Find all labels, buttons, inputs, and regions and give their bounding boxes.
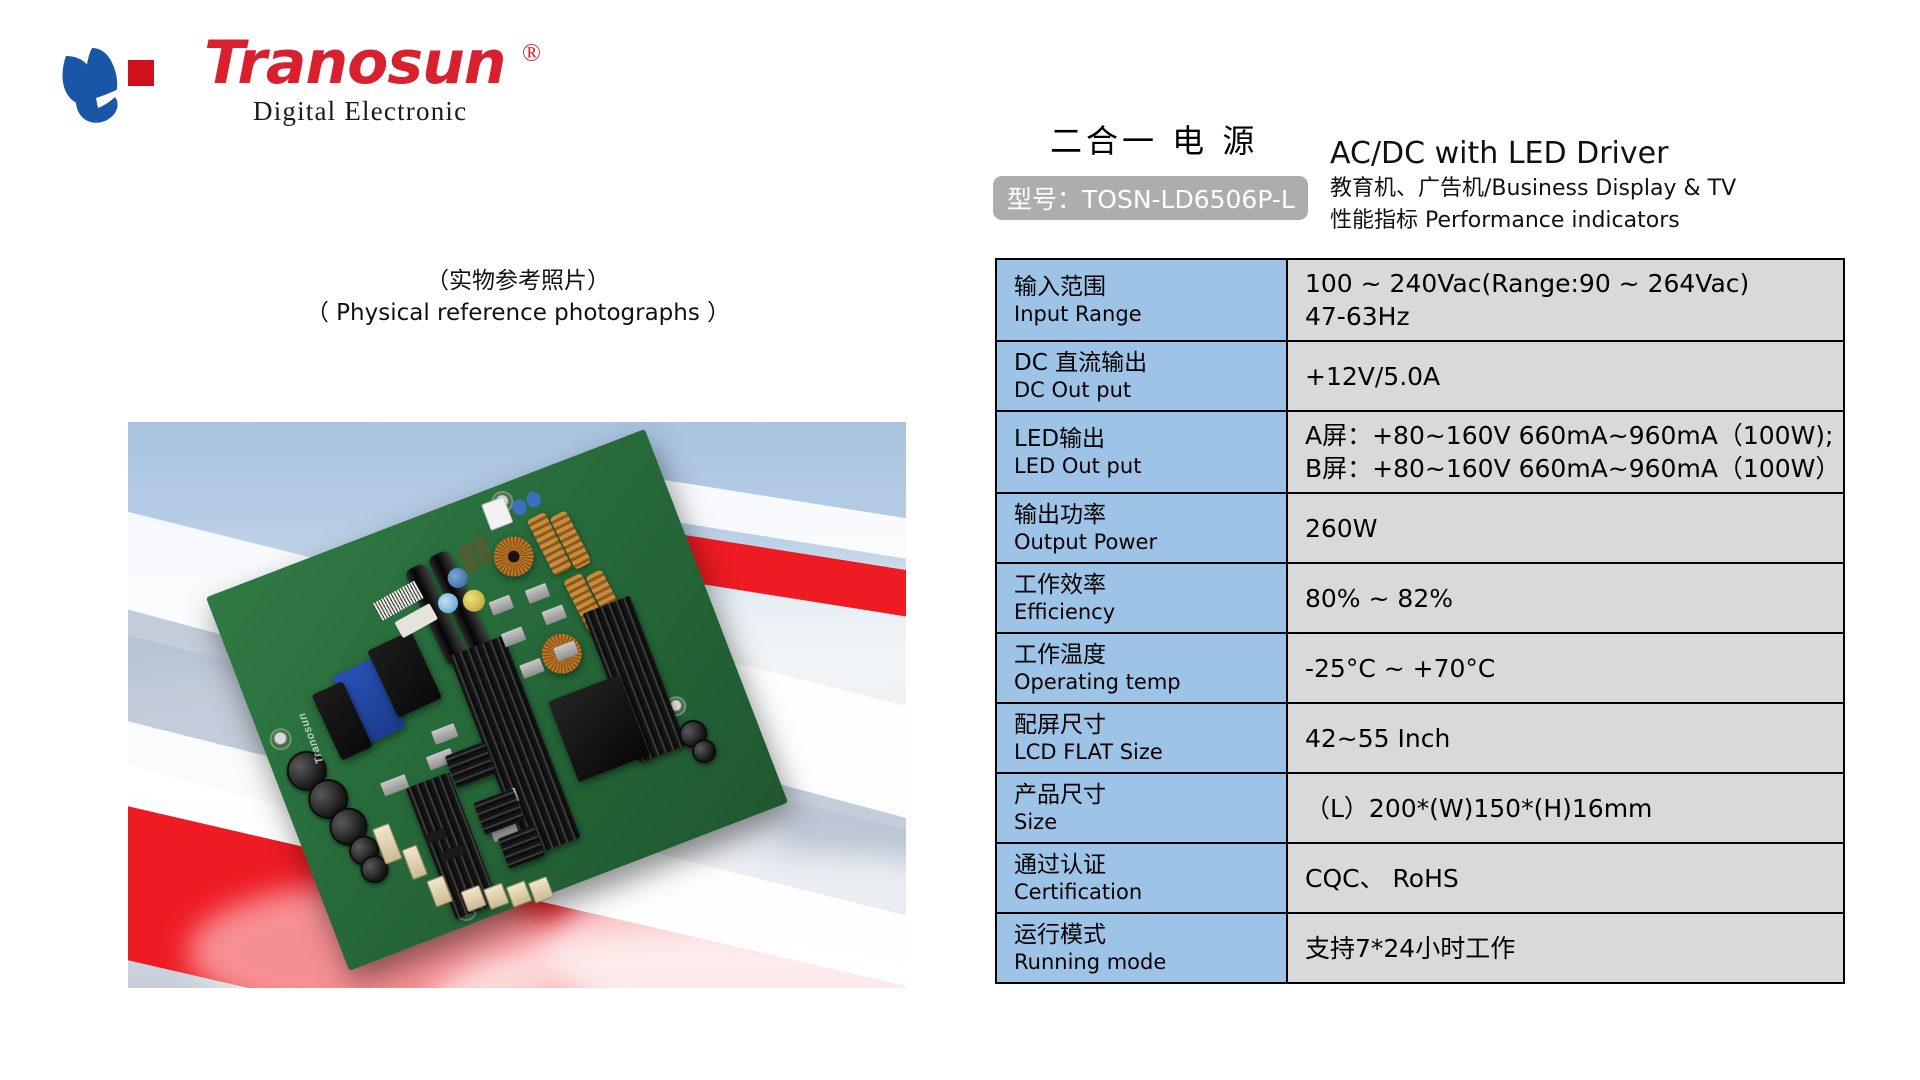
specification-table: 输入范围Input Range100 ~ 240Vac(Range:90 ~ 2… [995,258,1845,984]
model-number-badge: 型号：TOSN-LD6506P-L [993,176,1308,220]
model-number-text: 型号：TOSN-LD6506P-L [1007,180,1295,216]
brand-tagline: Digital Electronic [253,96,467,127]
spec-label-cell: 产品尺寸Size [996,773,1287,843]
spec-table-body: 输入范围Input Range100 ~ 240Vac(Range:90 ~ 2… [996,259,1844,983]
header-subtitles: AC/DC with LED Driver 教育机、广告机/Business D… [1330,135,1890,237]
spec-label-en: Running mode [1014,949,1286,975]
photo-caption-en: （ Physical reference photographs ） [128,297,908,329]
spec-label-cell: 工作效率Efficiency [996,563,1287,633]
product-type-title: AC/DC with LED Driver [1330,135,1890,173]
spec-label-cell: 通过认证Certification [996,843,1287,913]
table-row: 输入范围Input Range100 ~ 240Vac(Range:90 ~ 2… [996,259,1844,341]
brand-name: Tranosun [204,32,506,94]
spec-label-cn: 产品尺寸 [1014,781,1286,809]
table-row: 工作效率Efficiency80% ~ 82% [996,563,1844,633]
spec-label-en: Size [1014,809,1286,835]
spec-label-cell: 输出功率Output Power [996,493,1287,563]
performance-indicators-line: 性能指标 Performance indicators [1330,205,1890,237]
spec-label-cell: 运行模式Running mode [996,913,1287,983]
brand-wordmark: Tranosun ® Digital Electronic [204,32,604,134]
spec-value-line: 80% ~ 82% [1305,582,1843,615]
spec-label-cell: DC 直流输出DC Out put [996,341,1287,411]
spec-label-cn: 通过认证 [1014,851,1286,879]
spec-label-en: Input Range [1014,301,1286,327]
spec-value-cell: 42~55 Inch [1287,703,1844,773]
table-row: 工作温度Operating temp-25°C ~ +70°C [996,633,1844,703]
spec-label-cn: 输出功率 [1014,501,1286,529]
table-row: 通过认证CertificationCQC、 RoHS [996,843,1844,913]
spec-label-en: Output Power [1014,529,1286,555]
spec-value-cell: A屏：+80~160V 660mA~960mA（100W);B屏：+80~160… [1287,411,1844,493]
leaf-petal-mark-icon [52,38,164,126]
spec-label-cn: LED输出 [1014,425,1286,453]
spec-value-cell: +12V/5.0A [1287,341,1844,411]
spec-value-cell: 260W [1287,493,1844,563]
spec-label-cell: 输入范围Input Range [996,259,1287,341]
page-title-cn: 二合一 电 源 [1050,116,1258,162]
registered-trademark-icon: ® [522,40,541,68]
spec-value-line: 42~55 Inch [1305,722,1843,755]
spec-label-en: Certification [1014,879,1286,905]
table-row: 输出功率Output Power260W [996,493,1844,563]
brand-logo: Tranosun ® Digital Electronic [52,26,612,138]
spec-label-en: DC Out put [1014,377,1286,403]
spec-label-en: Operating temp [1014,669,1286,695]
spec-label-cell: 工作温度Operating temp [996,633,1287,703]
spec-value-cell: CQC、 RoHS [1287,843,1844,913]
spec-value-line: -25°C ~ +70°C [1305,652,1843,685]
photo-caption-cn: （实物参考照片） [128,265,908,297]
spec-value-cell: （L）200*(W)150*(H)16mm [1287,773,1844,843]
spec-value-line: A屏：+80~160V 660mA~960mA（100W); [1305,419,1843,452]
spec-value-line: CQC、 RoHS [1305,862,1843,895]
spec-value-line: B屏：+80~160V 660mA~960mA（100W） [1305,452,1843,485]
spec-label-en: LED Out put [1014,453,1286,479]
photo-caption: （实物参考照片） （ Physical reference photograph… [128,265,908,329]
table-row: 配屏尺寸LCD FLAT Size42~55 Inch [996,703,1844,773]
spec-label-cn: 配屏尺寸 [1014,711,1286,739]
spec-label-cn: DC 直流输出 [1014,349,1286,377]
spec-value-cell: 80% ~ 82% [1287,563,1844,633]
spec-value-line: 260W [1305,512,1843,545]
spec-label-cn: 输入范围 [1014,273,1286,301]
spec-value-cell: -25°C ~ +70°C [1287,633,1844,703]
spec-value-line: 100 ~ 240Vac(Range:90 ~ 264Vac) [1305,267,1843,300]
table-row: LED输出LED Out putA屏：+80~160V 660mA~960mA（… [996,411,1844,493]
application-line: 教育机、广告机/Business Display & TV [1330,173,1890,205]
spec-value-cell: 100 ~ 240Vac(Range:90 ~ 264Vac)47-63Hz [1287,259,1844,341]
product-photo: Tranosun [128,422,906,988]
spec-label-cn: 工作温度 [1014,641,1286,669]
spec-label-en: LCD FLAT Size [1014,739,1286,765]
table-row: DC 直流输出DC Out put+12V/5.0A [996,341,1844,411]
spec-label-cn: 运行模式 [1014,921,1286,949]
spec-value-cell: 支持7*24小时工作 [1287,913,1844,983]
table-row: 产品尺寸Size（L）200*(W)150*(H)16mm [996,773,1844,843]
spec-value-line: 47-63Hz [1305,300,1843,333]
spec-label-cell: LED输出LED Out put [996,411,1287,493]
spec-label-cn: 工作效率 [1014,571,1286,599]
spec-label-cell: 配屏尺寸LCD FLAT Size [996,703,1287,773]
spec-value-line: （L）200*(W)150*(H)16mm [1305,792,1843,825]
table-row: 运行模式Running mode支持7*24小时工作 [996,913,1844,983]
spec-value-line: +12V/5.0A [1305,360,1843,393]
spec-value-line: 支持7*24小时工作 [1305,932,1843,965]
spec-label-en: Efficiency [1014,599,1286,625]
